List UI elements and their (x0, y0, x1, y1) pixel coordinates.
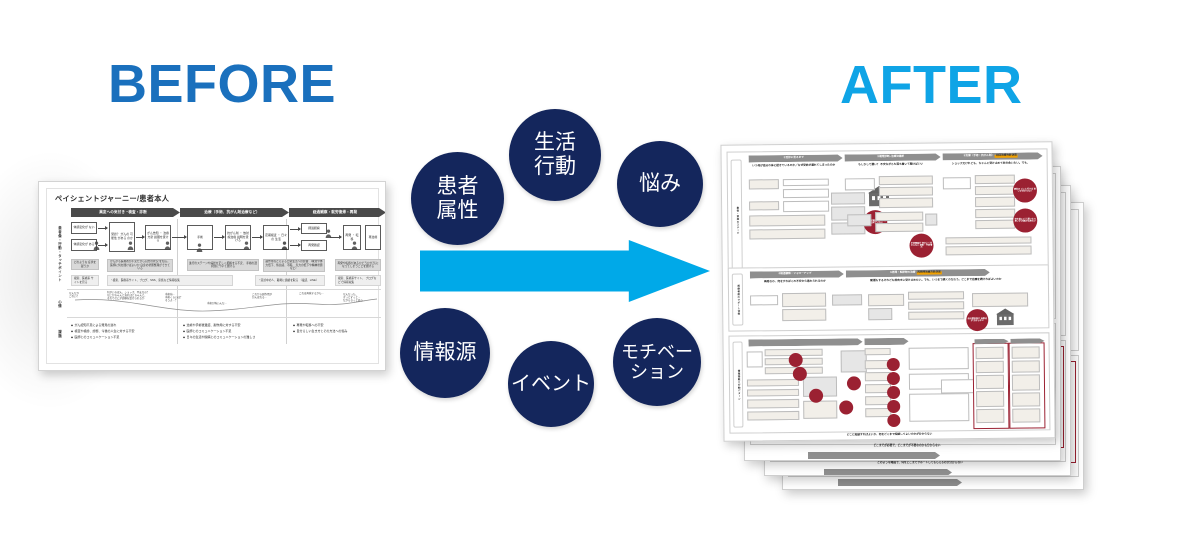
after-text-box (975, 197, 1015, 207)
after-text-box (976, 391, 1004, 407)
after-panel-header (975, 339, 1009, 344)
after-text-box (783, 179, 829, 186)
before-issue-column: 再発や転移への不安 自分らしい生き方とその方法への悩み (293, 323, 383, 335)
after-chevron-4: ④経過観察・フォローアップ (750, 270, 844, 278)
after-text-box (976, 347, 1004, 359)
before-channel-box: 検索、医療系サイト、 ブログなどで情報収集 (335, 275, 381, 286)
after-bottom-chevron (824, 469, 952, 476)
before-document-card[interactable]: ペイシェントジャーニー/患者本人 異変への気付き ~検査・診断 治療（手術、抗が… (38, 181, 386, 371)
after-text-box (747, 411, 799, 421)
after-text-box (845, 178, 875, 190)
after-text-box (1012, 408, 1040, 422)
before-connector (98, 228, 107, 229)
before-channel-box: 検索、医療系 サイトを見る (71, 275, 99, 286)
before-issue-item: 日々の生活や闘病とのコミュニケーションの難しさ (183, 335, 283, 341)
before-note-box: 副作用などによる日常生活への影響 （味覚や体力低下、倦怠感、不眠、 気力の低下や… (263, 259, 325, 272)
after-text-box (749, 229, 825, 240)
circle-label: 生活 行動 (534, 131, 576, 178)
before-connector (290, 229, 300, 230)
circle-event[interactable]: イベント (508, 341, 594, 427)
after-text-box (865, 348, 891, 355)
after-issue-badge (789, 353, 803, 367)
before-flow-box: 体調変化が ない (71, 222, 97, 234)
before-issue-column: がん認知不足による発見の遅れ 検査や検診、診断、今後の人生に対する不安 医師との… (71, 323, 171, 340)
after-page-1-inner: 患者・家族のステージ ①受診に至るまで ②確定診断~治療法選択 ③治療（手術・抗… (727, 146, 1051, 436)
after-text-box (975, 220, 1015, 229)
after-document-stack[interactable]: どのような場面で、何をどこまでサポートしてもらえるのか分からない (700, 130, 1200, 510)
after-issue-badge (847, 376, 861, 390)
after-issue-badge: 不安要素が 何かよく分からない 検索・不安増大 (909, 234, 933, 258)
after-text-box (976, 361, 1004, 373)
before-connector (252, 237, 262, 238)
after-text-box (868, 294, 904, 306)
before-note-box: 再発や転移があるかどうかが 気になってしまうことを聞ける (335, 259, 381, 271)
before-phase-chevron-1: 異変への気付き ~検査・診断 (71, 208, 180, 217)
after-bottom-caption: どこまでが必要で、どこまでが不要なのかも分からない (792, 445, 1022, 448)
circle-lifestyle-behavior[interactable]: 生活 行動 (509, 109, 601, 201)
after-text-box (749, 179, 779, 189)
after-issue-badge (887, 358, 900, 371)
before-note-box: どのような 症状を疑うか (71, 259, 99, 270)
after-bottom-caption: どこに相談すればよいか、何をどこまで相談してよいのかが分からない (769, 433, 1009, 438)
after-panel-header (1011, 338, 1045, 343)
after-text-box (908, 301, 964, 310)
after-issue-badge (887, 400, 900, 413)
person-icon (164, 241, 171, 250)
after-text-box (925, 213, 937, 225)
after-text-box (783, 201, 829, 212)
before-channel-box: ・検索、医療系サイト、ブログ、SNS、家族など情報収集 (107, 275, 233, 286)
after-issue-badge (839, 400, 853, 414)
after-text-box (879, 176, 933, 186)
before-doc-inner: ペイシェントジャーニー/患者本人 異変への気付き ~検査・診断 治療（手術、抗が… (46, 188, 379, 364)
person-icon (93, 241, 100, 250)
after-bottom-chevron (808, 452, 940, 459)
before-issue-item: 自分らしい生き方とその方法への悩み (293, 329, 383, 335)
circle-label: モチベー ション (621, 342, 693, 382)
after-text-box (945, 236, 1031, 244)
after-text-box (972, 293, 1028, 308)
after-text-box (832, 294, 862, 305)
after-text-box (783, 189, 829, 198)
before-connector (290, 245, 300, 246)
after-row-label-2: 医療者側のサポート体制 (732, 274, 744, 326)
emotion-note: 何がいちばん、ショック、不安なの？ なにがちゃんと治ればとちゃんと、 それでなに… (107, 291, 149, 300)
after-text-box (747, 379, 799, 387)
after-issue-badge (793, 367, 807, 381)
after-issue-badge (887, 386, 900, 399)
person-icon (243, 241, 250, 250)
after-chevron-7 (864, 338, 908, 345)
after-bottom-chevron (838, 479, 962, 486)
after-issue-badge: 何を誰にどう 聞いたら良いか 判断が出来ない (1013, 208, 1037, 232)
after-text-box (941, 379, 977, 393)
after-text-box (975, 175, 1015, 184)
circle-worries[interactable]: 悩み (617, 141, 703, 227)
after-text-box (879, 198, 933, 209)
after-text-box (946, 245, 1032, 255)
after-issue-badge: 他の選択肢や 治療法が 分からない (966, 309, 988, 331)
emotion-note: なんだか こわい？ (69, 292, 79, 298)
after-text-box (868, 308, 892, 320)
before-note-box: 進行のステージや病状を正しく把握する不安、 手術の選択肢について聞ける (187, 259, 259, 271)
after-text-box (747, 399, 799, 409)
after-title: AFTER (840, 58, 1022, 112)
after-text-box (747, 351, 763, 367)
slide-canvas: BEFORE AFTER ペイシェントジャーニー/患者本人 異変への気付き ~検… (0, 0, 1200, 540)
before-connector (172, 237, 186, 238)
emotion-note: なんだった、 ずっとずっと… だからきっと治ら… (343, 293, 365, 302)
after-text-box (749, 215, 825, 227)
transformation-arrow-icon (420, 240, 710, 302)
circle-label: イベント (511, 373, 591, 395)
after-chevron-3: ③治療（手術・抗がん剤） 初回治療方針決定 (943, 152, 1043, 160)
after-text-box (976, 409, 1004, 423)
person-icon (281, 241, 288, 250)
before-phase-chevron-2: 治療（手術、抗がん剤治療など） (180, 208, 289, 217)
circle-motivation[interactable]: モチベー ション (613, 318, 701, 406)
circle-label: 患者 属性 (437, 175, 479, 222)
after-text-box (1012, 392, 1040, 406)
after-text-box (841, 350, 867, 372)
after-text-box (908, 291, 964, 300)
after-text-box (847, 214, 871, 226)
after-text-box (909, 347, 969, 370)
before-flow-box: 再発確認 (301, 240, 327, 251)
before-title: BEFORE (108, 57, 336, 111)
before-issue-column: 治療や手術後遺症、副作用に対する不安 医師とのコミュニケーション不足 日々の生活… (183, 323, 283, 340)
after-chevron-2: ②確定診断~治療法選択 (845, 153, 941, 161)
after-text-box (1012, 374, 1040, 390)
before-row-divider-1 (67, 289, 381, 290)
after-text-box (782, 309, 826, 321)
after-issue-badge: 病院の どこに行けば 良いか分からない (1013, 178, 1037, 202)
after-issue-badge (887, 372, 900, 385)
circle-label: 情報源 (414, 341, 477, 365)
after-row-label-3: 情報接触と行動パターン (733, 342, 744, 428)
after-row-label-1: 患者・家族のステージ (731, 160, 743, 282)
emotion-note: 手術前… 手術くらいは？ そうよ…？ (165, 293, 183, 302)
person-icon (351, 241, 358, 250)
before-note-box: がんかも医療者が不安だから自分の状況 を知る。医師に何を聞けばよいか 自身の状態… (107, 259, 173, 272)
after-text-box (1012, 346, 1040, 358)
after-text-box (975, 186, 1015, 195)
after-text-box (879, 187, 933, 197)
before-flow-box: 経過観察 (301, 223, 327, 234)
after-text-box (875, 212, 923, 222)
after-issue-badge (809, 389, 823, 403)
before-connector (214, 237, 224, 238)
after-document-page-1[interactable]: 患者・家族のステージ ①受診に至るまで ②確定診断~治療法選択 ③治療（手術・抗… (720, 141, 1055, 441)
before-issue-item: 医師とのコミュニケーション不足 (71, 335, 171, 341)
before-row-divider-2 (67, 317, 381, 318)
emotion-note: 手術が怖いんだ… (207, 302, 227, 305)
before-row-label-emotion: 心情 (57, 293, 60, 315)
after-text-box (943, 177, 971, 189)
emotion-note: これは再発するかも… (299, 292, 324, 295)
after-text-box (831, 192, 865, 204)
after-text-box (749, 201, 779, 210)
after-chevron-6 (748, 338, 862, 346)
after-text-box (750, 295, 778, 305)
circle-information-source[interactable]: 情報源 (400, 308, 490, 398)
after-text-box (908, 311, 964, 320)
circle-patient-attributes[interactable]: 患者 属性 (411, 152, 504, 245)
before-row-label-behavior: 患者像・行動・タッチポイント (57, 221, 60, 287)
before-connector (136, 237, 144, 238)
hospital-icon (994, 307, 1016, 327)
before-flow-box: 再治療 (365, 225, 381, 250)
after-bottom-caption: どのような場面で、何をどこまでサポートしてもらえるのか分からない (810, 462, 1030, 465)
person-icon (325, 229, 332, 238)
before-phase-chevron-3: 経過観察・就労復帰・再発 (289, 208, 386, 217)
after-text-box (909, 393, 969, 422)
after-text-box (803, 401, 837, 419)
before-doc-title: ペイシェントジャーニー/患者本人 (55, 194, 169, 204)
person-icon (196, 243, 203, 252)
after-chevron-1: ①受診に至るまで (749, 154, 843, 162)
emotion-note: これから副作用が がんばれる… (252, 293, 272, 299)
before-row-label-issues: 課題 (57, 321, 60, 347)
person-icon (127, 241, 134, 250)
after-text-box (747, 389, 799, 397)
circle-label: 悩み (639, 172, 681, 196)
after-text-box (875, 223, 923, 233)
after-text-box (976, 375, 1004, 389)
after-text-box (975, 209, 1015, 218)
after-issue-badge (887, 414, 900, 427)
after-text-box (782, 293, 826, 307)
before-channel-box: ・受診中の人、職場に連絡を取る （電話、LINE） (255, 275, 325, 286)
after-text-box (1012, 360, 1040, 372)
